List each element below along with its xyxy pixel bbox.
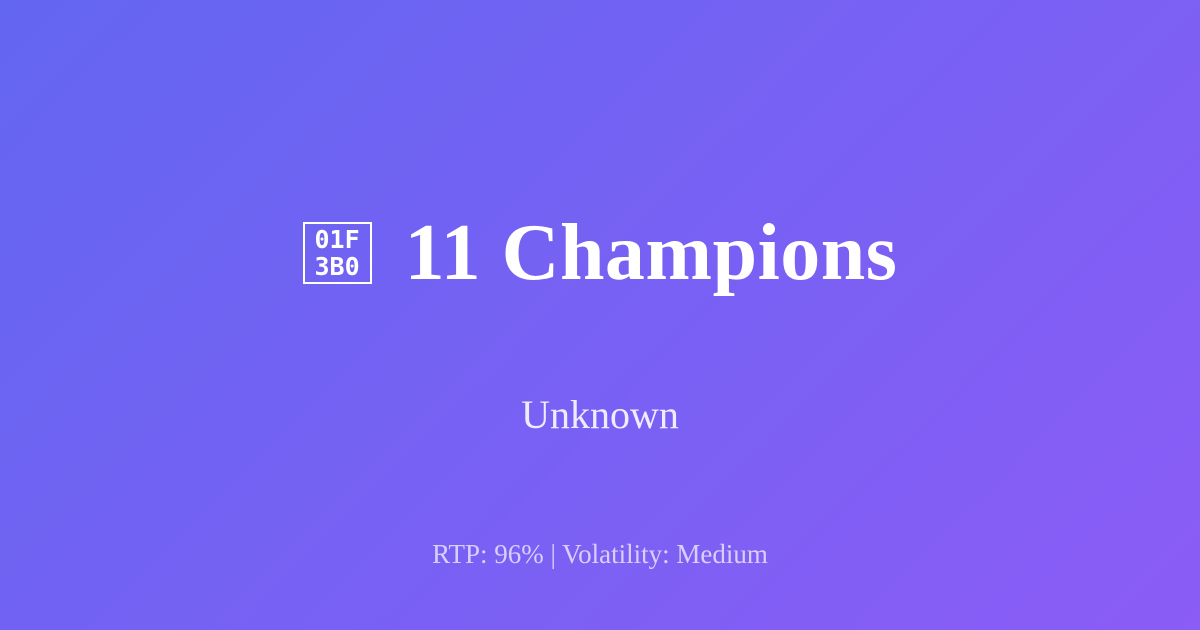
codepoint-row-lower: 3B0 [315, 253, 360, 280]
page-subtitle: Unknown [521, 395, 679, 435]
share-card: 01F 3B0 11 Champions Unknown RTP: 96% | … [0, 0, 1200, 630]
slot-machine-icon: 01F 3B0 [303, 222, 372, 284]
game-meta-line: RTP: 96% | Volatility: Medium [0, 541, 1200, 568]
title-row: 01F 3B0 11 Champions [303, 159, 898, 346]
codepoint-row-upper: 01F [315, 226, 360, 253]
hero-block: 01F 3B0 11 Champions Unknown [0, 159, 1200, 434]
page-title: 11 Champions [405, 213, 898, 293]
